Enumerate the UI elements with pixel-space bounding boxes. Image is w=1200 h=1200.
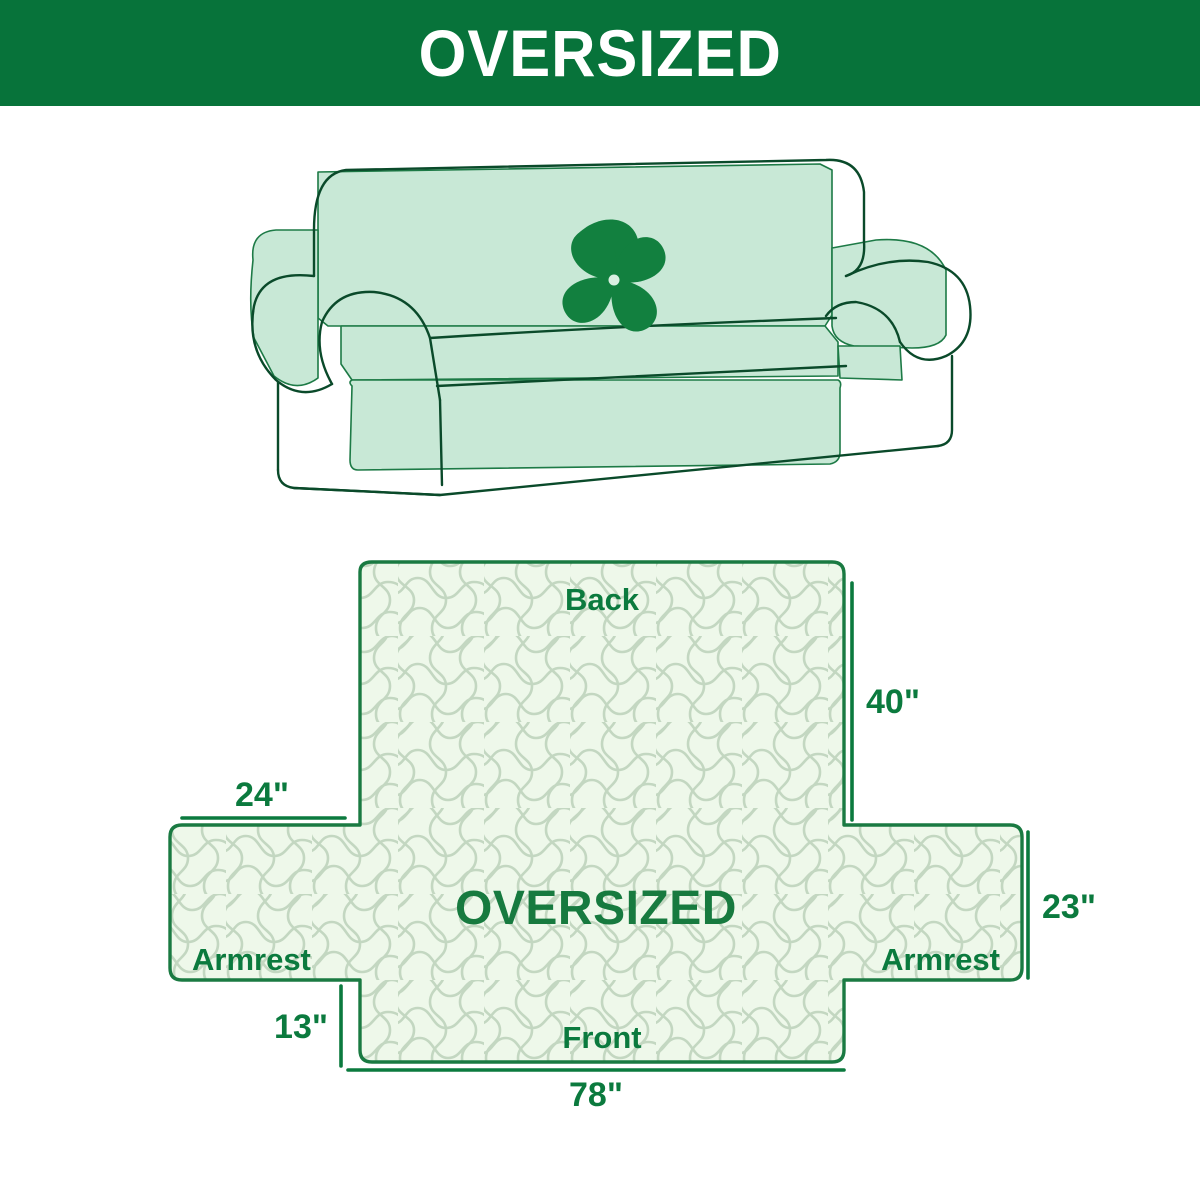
- sofa-left-arm-outer: [251, 230, 318, 386]
- cover-shape-fill: [170, 562, 1022, 1062]
- pinwheel-hub: [609, 275, 620, 286]
- dimension-40: 40": [852, 583, 920, 820]
- cover-shape: [170, 562, 1022, 1062]
- dimension-78-label: 78": [569, 1076, 623, 1114]
- pattern-diagram-svg: Back Front Armrest Armrest OVERSIZED 24"…: [140, 550, 1100, 1130]
- label-armrest-right: Armrest: [881, 942, 1000, 977]
- sofa-svg: [240, 130, 980, 525]
- label-front: Front: [562, 1020, 641, 1055]
- dimension-13: 13": [274, 986, 341, 1066]
- sofa-illustration: [240, 130, 980, 525]
- sofa-right-arm-front: [938, 356, 952, 446]
- dimension-40-label: 40": [866, 683, 920, 721]
- pattern-diagram: Back Front Armrest Armrest OVERSIZED 24"…: [140, 550, 1100, 1130]
- label-back: Back: [565, 582, 640, 617]
- label-oversized-center: OVERSIZED: [455, 882, 737, 935]
- sofa-right-arm-lower: [838, 346, 902, 380]
- sofa-front-skirt: [350, 380, 841, 470]
- page-title: OVERSIZED: [418, 20, 781, 86]
- dimension-23: 23": [1028, 832, 1096, 978]
- sofa-right-arm-top: [832, 240, 946, 348]
- dimension-23-label: 23": [1042, 888, 1096, 926]
- dimension-24-label: 24": [235, 776, 289, 814]
- header-banner: OVERSIZED: [0, 0, 1200, 106]
- dimension-24: 24": [182, 776, 345, 818]
- sofa-seat-cushion: [341, 326, 838, 380]
- label-armrest-left: Armrest: [192, 942, 311, 977]
- dimension-78: 78": [348, 1070, 844, 1114]
- dimension-13-label: 13": [274, 1008, 328, 1046]
- sofa-base-left-edge: [294, 488, 440, 495]
